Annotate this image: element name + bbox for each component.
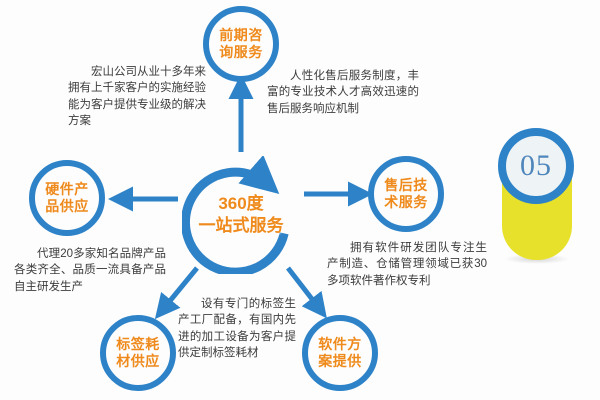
description-after-sales: 人性化售后服务制度，丰富的专业技术人才高效迅速的售后服务响应机制 bbox=[267, 68, 419, 117]
hub-label: 360度 一站式服务 bbox=[199, 193, 284, 237]
diagram-canvas: 360度 一站式服务 前期咨 询服务 硬件产 品供应 售后技 术服务 标签耗 材… bbox=[0, 0, 600, 400]
description-label-consumables: 设有专门的标签生产工厂配备，有国内先进的加工设备为客户提供定制标签耗材 bbox=[178, 296, 296, 361]
description-pre-consultation: 宏山公司从业十多年来拥有上千家客户的实施经验能为客户提供专业级的解决方案 bbox=[68, 64, 206, 129]
node-pre-consultation-label: 前期咨 询服务 bbox=[219, 27, 263, 60]
description-software: 拥有软件研发团队专注生产制造、仓储管理领域已获30多项软件著作权专利 bbox=[327, 240, 487, 289]
node-label-consumables[interactable]: 标签耗 材供应 bbox=[100, 315, 176, 391]
node-after-sales-tech-label: 售后技 术服务 bbox=[384, 177, 428, 210]
badge-05: 05 bbox=[498, 128, 578, 264]
badge-number: 05 bbox=[520, 151, 552, 181]
node-label-consumables-label: 标签耗 材供应 bbox=[116, 336, 160, 369]
hub-node[interactable]: 360度 一站式服务 bbox=[182, 156, 300, 274]
node-hardware-supply[interactable]: 硬件产 品供应 bbox=[29, 160, 105, 236]
badge-circle: 05 bbox=[498, 128, 574, 204]
description-hardware: 代理20多家知名品牌产品各类齐全、品质一流具备产品自主研发生产 bbox=[14, 246, 166, 295]
node-software-solution-label: 软件方 案提供 bbox=[318, 336, 362, 369]
node-hardware-supply-label: 硬件产 品供应 bbox=[45, 181, 89, 214]
node-after-sales-tech[interactable]: 售后技 术服务 bbox=[368, 156, 444, 232]
node-software-solution[interactable]: 软件方 案提供 bbox=[302, 315, 378, 391]
